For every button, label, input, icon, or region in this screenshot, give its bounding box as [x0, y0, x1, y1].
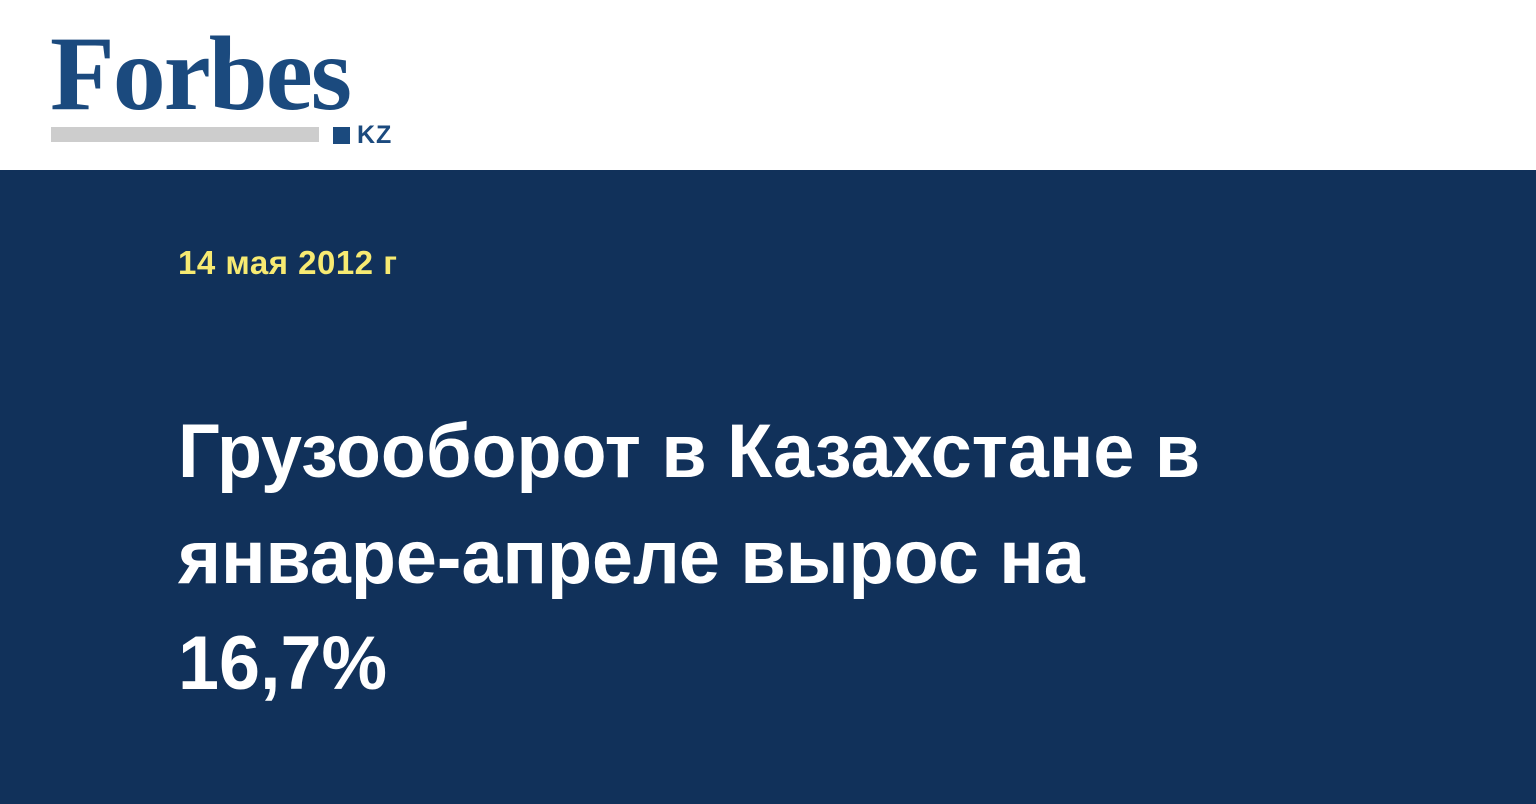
site-header: Forbes KZ: [0, 0, 1536, 170]
logo-square-icon: [333, 127, 350, 144]
article-date: 14 мая 2012 г: [178, 244, 397, 282]
article-title: Грузооборот в Казахстане в январе-апреле…: [178, 399, 1303, 717]
logo-kz-text: KZ: [357, 123, 392, 148]
forbes-kz-logo[interactable]: Forbes KZ: [50, 22, 410, 147]
page-root: Forbes KZ 14 мая 2012 г Грузооборот в Ка…: [0, 0, 1536, 804]
article-hero: 14 мая 2012 г Грузооборот в Казахстане в…: [0, 170, 1536, 804]
logo-wordmark-text: Forbes: [50, 22, 350, 126]
logo-underbar: [51, 127, 319, 142]
